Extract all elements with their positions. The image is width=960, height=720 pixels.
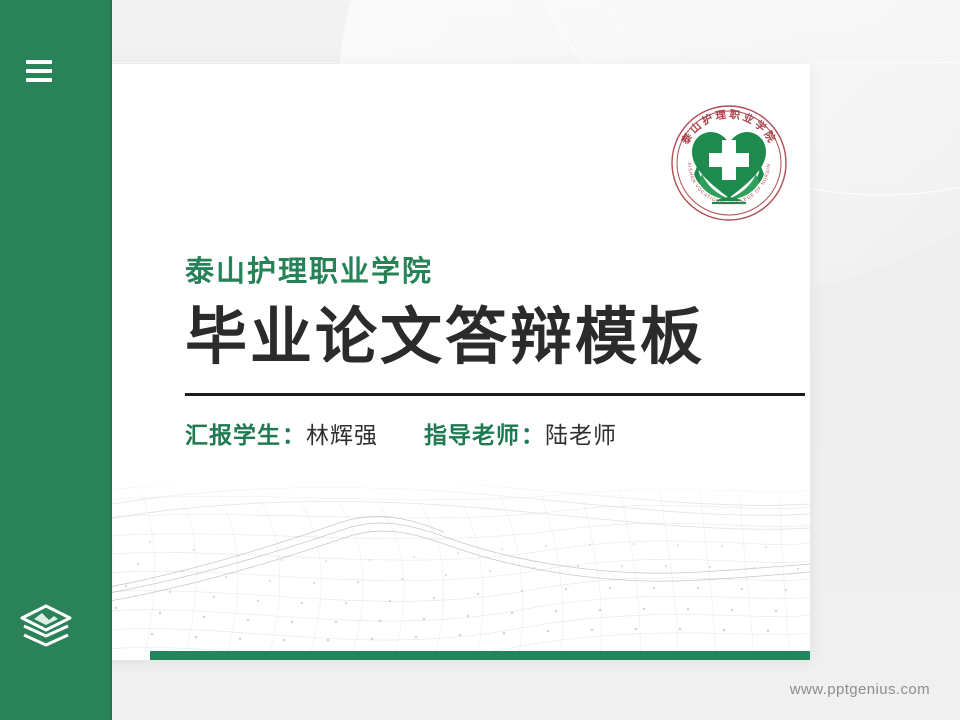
page-title: 毕业论文答辩模板 [185,303,810,371]
title-divider [185,393,805,396]
school-name: 泰山护理职业学院 [185,254,810,289]
presenter-student-separator: ： [281,422,306,452]
menu-bar-3 [26,78,52,82]
presenter-student: 汇报学生 ： 林辉强 [185,422,378,452]
menu-bar-2 [26,69,52,73]
presenter-advisor-separator: ： [520,422,545,452]
title-text-block: 泰山护理职业学院 毕业论文答辩模板 汇报学生 ： 林辉强 指导老师 ： 陆老师 [185,254,810,452]
layers-stack-icon[interactable] [18,602,74,654]
presenter-advisor-label: 指导老师 [424,422,520,452]
college-logo: 泰山护理职业学院 TAISHAN VOCATIONAL COLLEGE OF N… [668,102,790,224]
presenter-advisor: 指导老师 ： 陆老师 [424,422,617,452]
sidebar-edge-shadow [110,0,112,720]
card-accent-bar [150,651,810,660]
mesh-wave-artwork [80,480,810,660]
hamburger-menu-icon[interactable] [26,60,52,82]
menu-bar-1 [26,60,52,64]
presentation-slide: 泰山护理职业学院 TAISHAN VOCATIONAL COLLEGE OF N… [0,0,960,720]
presenter-student-label: 汇报学生 [185,422,281,452]
background-hairline [0,62,960,63]
slide-card: 泰山护理职业学院 TAISHAN VOCATIONAL COLLEGE OF N… [80,64,810,660]
footer-website-url: www.pptgenius.com [790,681,930,698]
presenter-advisor-value: 陆老师 [545,422,617,452]
left-sidebar [0,0,112,720]
presenter-row: 汇报学生 ： 林辉强 指导老师 ： 陆老师 [185,422,810,452]
presenter-student-value: 林辉强 [306,422,378,452]
